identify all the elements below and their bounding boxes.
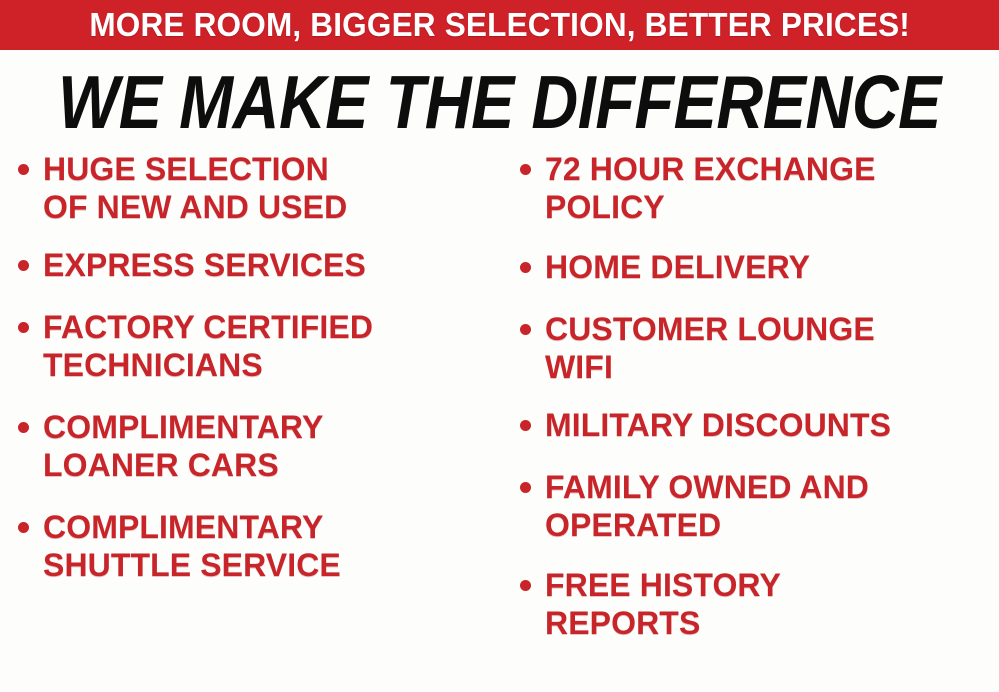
bullet-dot-icon [520, 262, 531, 273]
headline-container: WE MAKE THE DIFFERENCE [0, 62, 999, 144]
bullet-dot-icon [520, 482, 531, 493]
bullet-dot-icon [520, 580, 531, 591]
promo-banner: MORE ROOM, BIGGER SELECTION, BETTER PRIC… [0, 0, 999, 50]
benefits-column-left: HUGE SELECTION OF NEW AND USED EXPRESS S… [0, 150, 500, 692]
list-item-label: COMPLIMENTARY LOANER CARS [43, 408, 500, 484]
advertisement-banner: MORE ROOM, BIGGER SELECTION, BETTER PRIC… [0, 0, 999, 692]
list-item: FACTORY CERTIFIED TECHNICIANS [18, 308, 500, 384]
benefits-column-right: 72 HOUR EXCHANGE POLICY HOME DELIVERY CU… [500, 150, 999, 692]
list-item: HUGE SELECTION OF NEW AND USED [18, 150, 500, 226]
bullet-dot-icon [18, 422, 29, 433]
list-item: EXPRESS SERVICES [18, 246, 500, 284]
bullet-dot-icon [18, 260, 29, 271]
benefits-columns: HUGE SELECTION OF NEW AND USED EXPRESS S… [0, 150, 999, 692]
list-item-label: CUSTOMER LOUNGE WIFI [545, 310, 999, 386]
list-item: MILITARY DISCOUNTS [520, 406, 999, 444]
list-item: HOME DELIVERY [520, 248, 999, 286]
list-item-label: FREE HISTORY REPORTS [545, 566, 999, 642]
list-item: COMPLIMENTARY SHUTTLE SERVICE [18, 508, 500, 584]
list-item: 72 HOUR EXCHANGE POLICY [520, 150, 999, 226]
page-title: WE MAKE THE DIFFERENCE [58, 65, 941, 142]
bullet-dot-icon [520, 324, 531, 335]
list-item: COMPLIMENTARY LOANER CARS [18, 408, 500, 484]
list-item-label: HUGE SELECTION OF NEW AND USED [43, 150, 500, 226]
bullet-dot-icon [18, 522, 29, 533]
list-item-label: HOME DELIVERY [545, 248, 999, 286]
list-item: FAMILY OWNED AND OPERATED [520, 468, 999, 544]
list-item: CUSTOMER LOUNGE WIFI [520, 310, 999, 386]
list-item-label: FACTORY CERTIFIED TECHNICIANS [43, 308, 500, 384]
bullet-dot-icon [18, 322, 29, 333]
list-item-label: MILITARY DISCOUNTS [545, 406, 999, 444]
bullet-dot-icon [18, 164, 29, 175]
list-item-label: FAMILY OWNED AND OPERATED [545, 468, 999, 544]
list-item: FREE HISTORY REPORTS [520, 566, 999, 642]
list-item-label: EXPRESS SERVICES [43, 246, 500, 284]
bullet-dot-icon [520, 420, 531, 431]
list-item-label: 72 HOUR EXCHANGE POLICY [545, 150, 999, 226]
bullet-dot-icon [520, 164, 531, 175]
promo-banner-text: MORE ROOM, BIGGER SELECTION, BETTER PRIC… [89, 8, 910, 42]
list-item-label: COMPLIMENTARY SHUTTLE SERVICE [43, 508, 500, 584]
